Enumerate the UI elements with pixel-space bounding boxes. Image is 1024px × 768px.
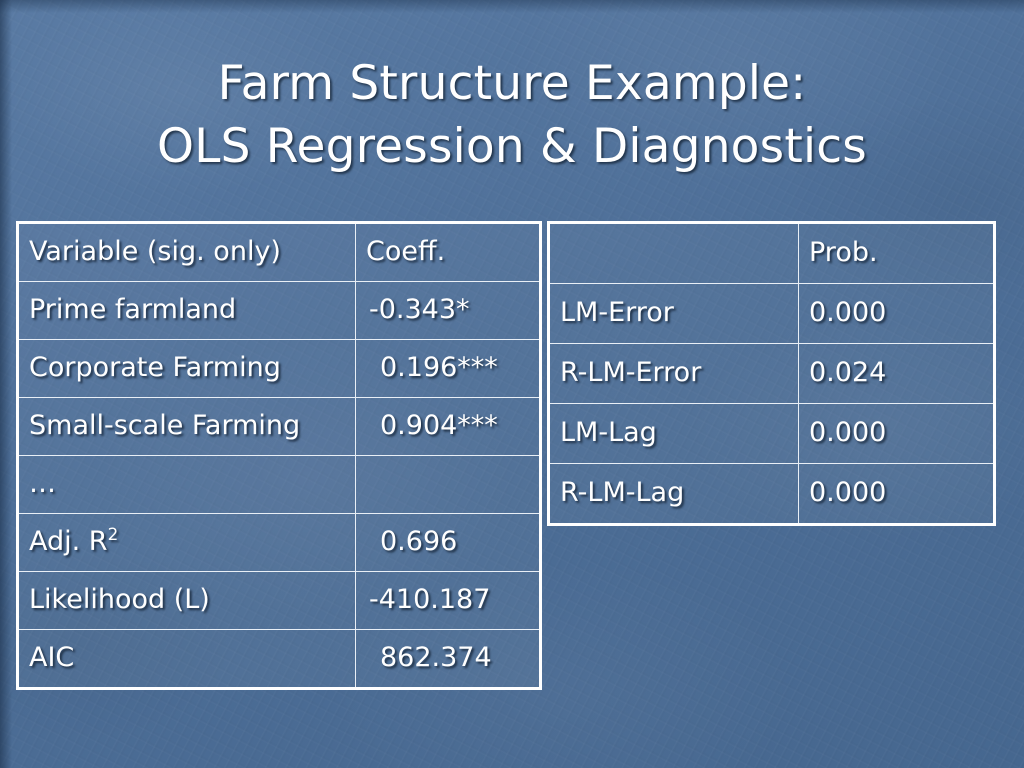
table-row: R-LM-Error 0.024	[549, 344, 995, 404]
cell-test: LM-Lag	[549, 404, 799, 464]
cell-test: R-LM-Lag	[549, 464, 799, 525]
cell-variable: Corporate Farming	[18, 340, 356, 398]
column-header-test	[549, 223, 799, 284]
table-row: R-LM-Lag 0.000	[549, 464, 995, 525]
cell-variable: …	[18, 456, 356, 514]
cell-variable: Prime farmland	[18, 282, 356, 340]
cell-variable: AIC	[18, 630, 356, 689]
column-header-coeff: Coeff.	[356, 223, 541, 282]
regression-results-table: Variable (sig. only) Coeff. Prime farmla…	[16, 221, 542, 690]
table-row: Adj. R2 0.696	[18, 514, 541, 572]
cell-coeff	[356, 456, 541, 514]
column-header-prob: Prob.	[799, 223, 995, 284]
table-row: AIC 862.374	[18, 630, 541, 689]
cell-coeff: 0.196***	[356, 340, 541, 398]
table-row: LM-Error 0.000	[549, 284, 995, 344]
slide-canvas: Farm Structure Example: OLS Regression &…	[0, 0, 1024, 768]
cell-prob: 0.000	[799, 284, 995, 344]
cell-coeff: 862.374	[356, 630, 541, 689]
table-row: Prime farmland -0.343*	[18, 282, 541, 340]
table-header-row: Prob.	[549, 223, 995, 284]
cell-prob: 0.000	[799, 404, 995, 464]
cell-prob: 0.000	[799, 464, 995, 525]
table-row: Corporate Farming 0.196***	[18, 340, 541, 398]
diagnostics-table: Prob. LM-Error 0.000 R-LM-Error 0.024 LM…	[547, 221, 996, 526]
table-header-row: Variable (sig. only) Coeff.	[18, 223, 541, 282]
cell-coeff: -410.187	[356, 572, 541, 630]
slide-title: Farm Structure Example: OLS Regression &…	[0, 52, 1024, 178]
cell-test: R-LM-Error	[549, 344, 799, 404]
cell-variable: Adj. R2	[18, 514, 356, 572]
cell-coeff: 0.904***	[356, 398, 541, 456]
cell-variable: Small-scale Farming	[18, 398, 356, 456]
slide-title-line-1: Farm Structure Example:	[218, 56, 807, 111]
cell-prob: 0.024	[799, 344, 995, 404]
cell-variable-superscript: 2	[108, 524, 119, 544]
table-row: Small-scale Farming 0.904***	[18, 398, 541, 456]
cell-test: LM-Error	[549, 284, 799, 344]
table-row: …	[18, 456, 541, 514]
table-row: LM-Lag 0.000	[549, 404, 995, 464]
slide-title-line-2: OLS Regression & Diagnostics	[157, 119, 867, 174]
cell-coeff: -0.343*	[356, 282, 541, 340]
cell-variable: Likelihood (L)	[18, 572, 356, 630]
cell-coeff: 0.696	[356, 514, 541, 572]
cell-variable-text: Adj. R	[29, 526, 108, 557]
table-row: Likelihood (L) -410.187	[18, 572, 541, 630]
column-header-variable: Variable (sig. only)	[18, 223, 356, 282]
slide-top-edge-shadow	[0, 0, 1024, 13]
